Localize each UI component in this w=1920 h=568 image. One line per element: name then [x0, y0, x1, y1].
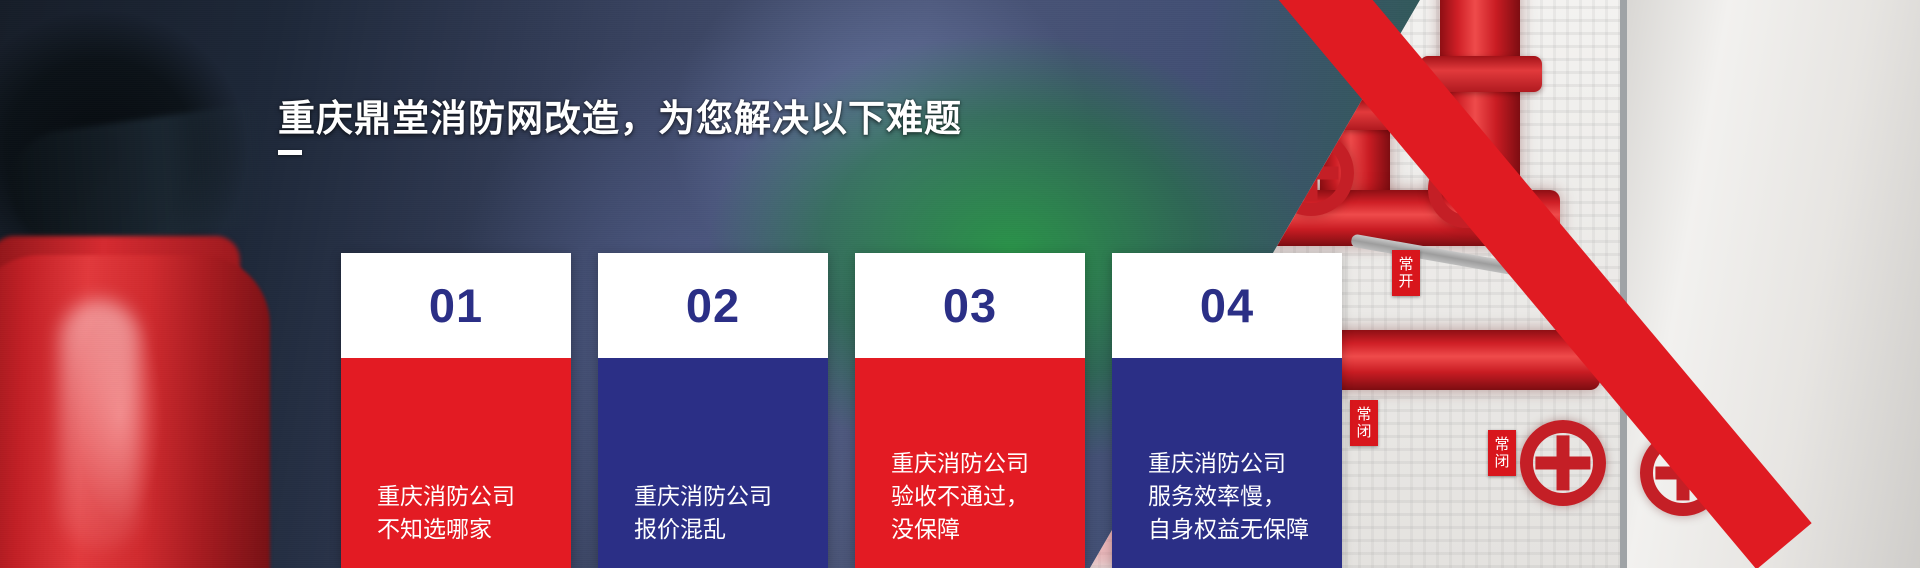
- card-body-01: 重庆消防公司 不知选哪家: [341, 358, 571, 568]
- card-body-03: 重庆消防公司 验收不通过， 没保障: [855, 358, 1085, 568]
- card-text-02: 重庆消防公司 报价混乱: [634, 480, 772, 546]
- photo-handwheel-3: [1520, 420, 1606, 506]
- page-title: 重庆鼎堂消防网改造，为您解决以下难题: [278, 88, 962, 142]
- pain-point-card-04[interactable]: 04 重庆消防公司 服务效率慢， 自身权益无保障: [1112, 253, 1342, 568]
- card-text-01: 重庆消防公司 不知选哪家: [377, 480, 515, 546]
- card-text-03: 重庆消防公司 验收不通过， 没保障: [891, 447, 1029, 546]
- card-number-02: 02: [598, 253, 828, 358]
- card-body-02: 重庆消防公司 报价混乱: [598, 358, 828, 568]
- pain-point-card-01[interactable]: 01 重庆消防公司 不知选哪家: [341, 253, 571, 568]
- card-number-04: 04: [1112, 253, 1342, 358]
- valve-tag-closed-icon-3: 常闭: [1488, 430, 1516, 476]
- pain-point-card-list: 01 重庆消防公司 不知选哪家 02 重庆消防公司 报价混乱 03 重庆消防公司…: [341, 253, 1342, 568]
- card-number-01: 01: [341, 253, 571, 358]
- card-body-04: 重庆消防公司 服务效率慢， 自身权益无保障: [1112, 358, 1342, 568]
- pain-point-card-03[interactable]: 03 重庆消防公司 验收不通过， 没保障: [855, 253, 1085, 568]
- title-underline-rule: [278, 150, 302, 155]
- card-number-03: 03: [855, 253, 1085, 358]
- pain-point-card-02[interactable]: 02 重庆消防公司 报价混乱: [598, 253, 828, 568]
- card-text-04: 重庆消防公司 服务效率慢， 自身权益无保障: [1148, 447, 1309, 546]
- promo-banner: 常开 常开 常闭 常闭 常闭 重庆鼎堂消防网改造，为您解决以下难题 01 重庆消…: [0, 0, 1920, 568]
